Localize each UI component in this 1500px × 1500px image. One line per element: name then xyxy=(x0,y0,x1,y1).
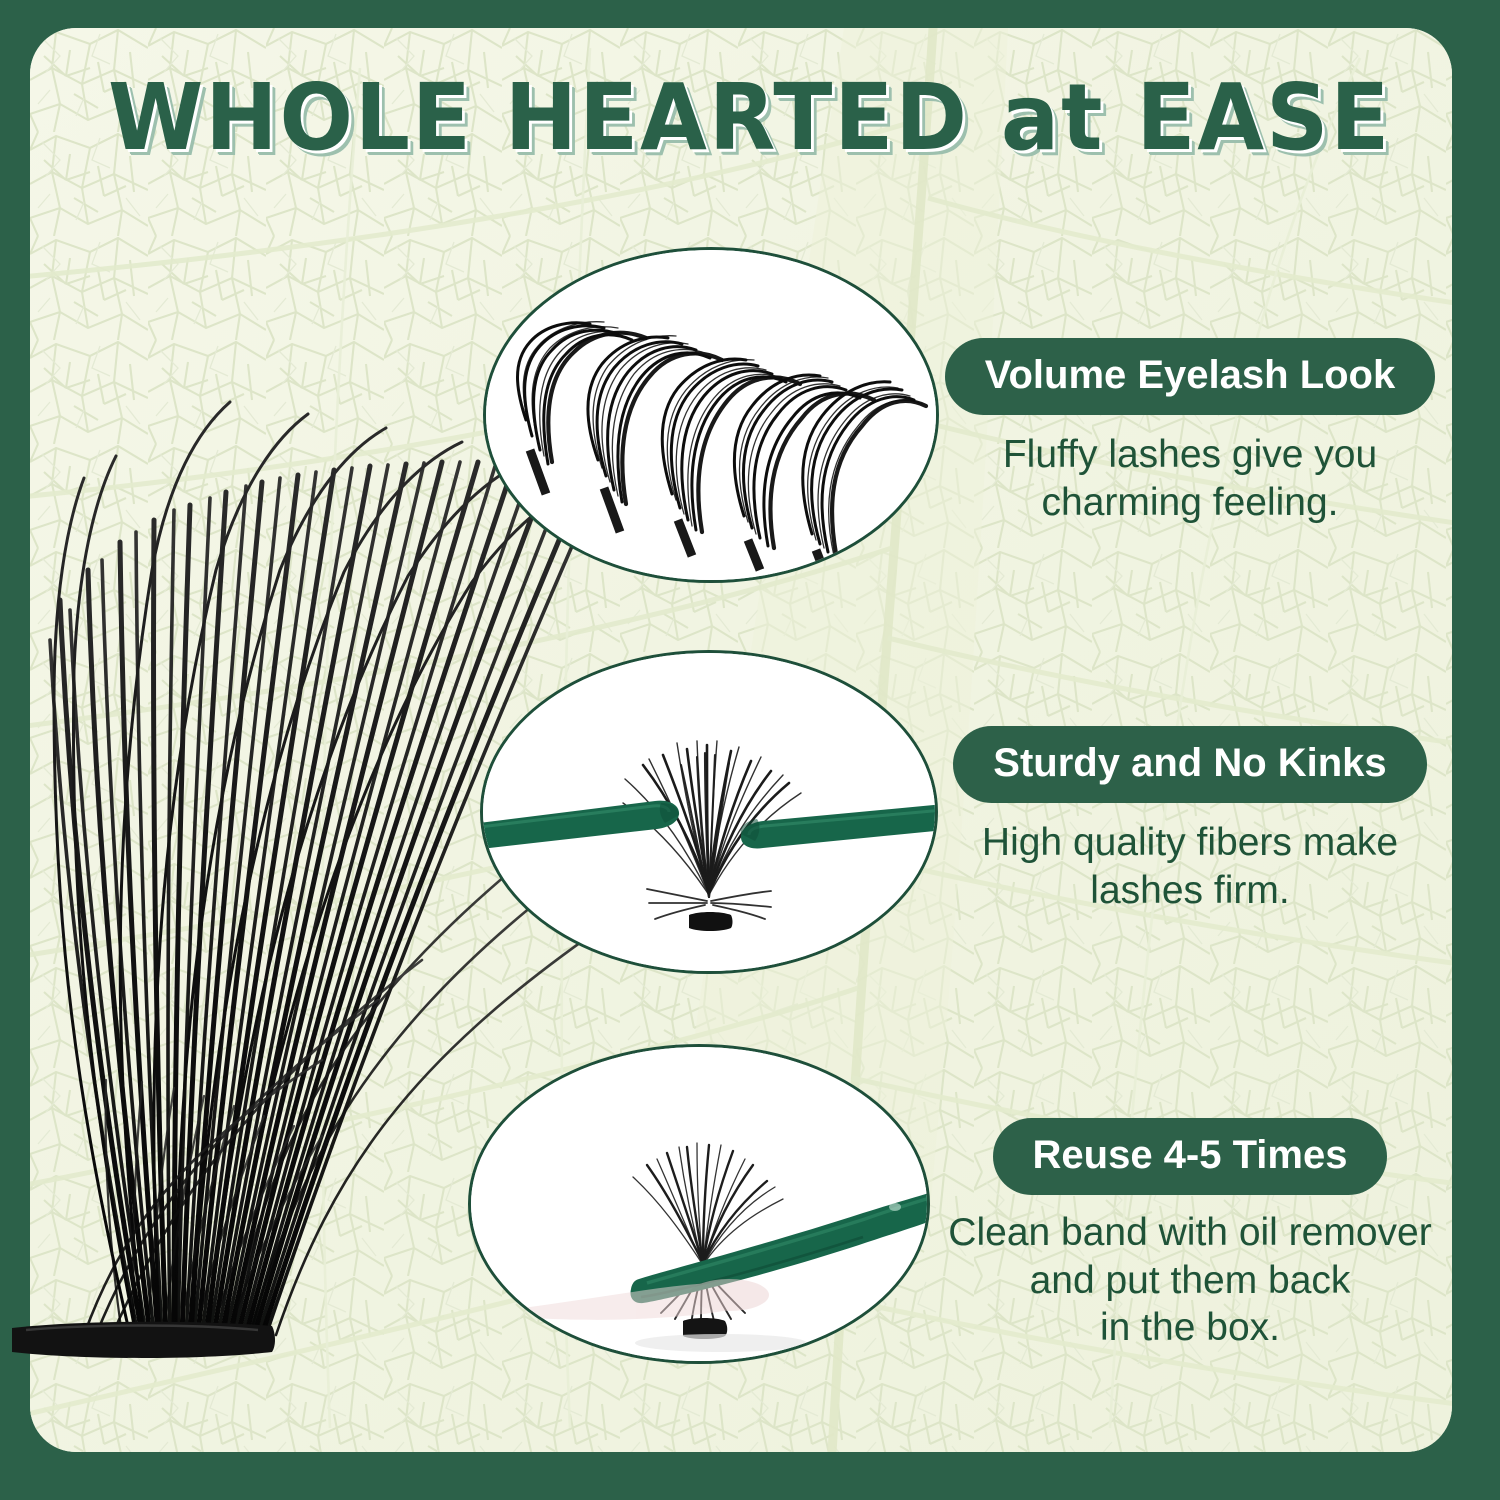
feature-image-reusable-lash xyxy=(468,1044,930,1364)
feature-block-3: Reuse 4-5 Times Clean band with oil remo… xyxy=(930,1118,1450,1352)
product-infographic: WHOLE HEARTED at EASE xyxy=(0,0,1500,1500)
feature-description-3: Clean band with oil remover and put them… xyxy=(930,1209,1450,1352)
feature-block-2: Sturdy and No Kinks High quality fibers … xyxy=(940,726,1440,914)
feature-badge-sturdy-and-no-kinks: Sturdy and No Kinks xyxy=(953,726,1426,803)
feature-block-1: Volume Eyelash Look Fluffy lashes give y… xyxy=(940,338,1440,526)
feature-badge-volume-eyelash-look: Volume Eyelash Look xyxy=(945,338,1436,415)
feature-image-volume-lash xyxy=(483,247,939,583)
feature-description-2: High quality fibers make lashes firm. xyxy=(940,819,1440,914)
feature-badge-reuse-4-5-times: Reuse 4-5 Times xyxy=(993,1118,1388,1195)
feature-description-1: Fluffy lashes give you charming feeling. xyxy=(940,431,1440,526)
feature-image-sturdy-lash xyxy=(480,650,938,974)
